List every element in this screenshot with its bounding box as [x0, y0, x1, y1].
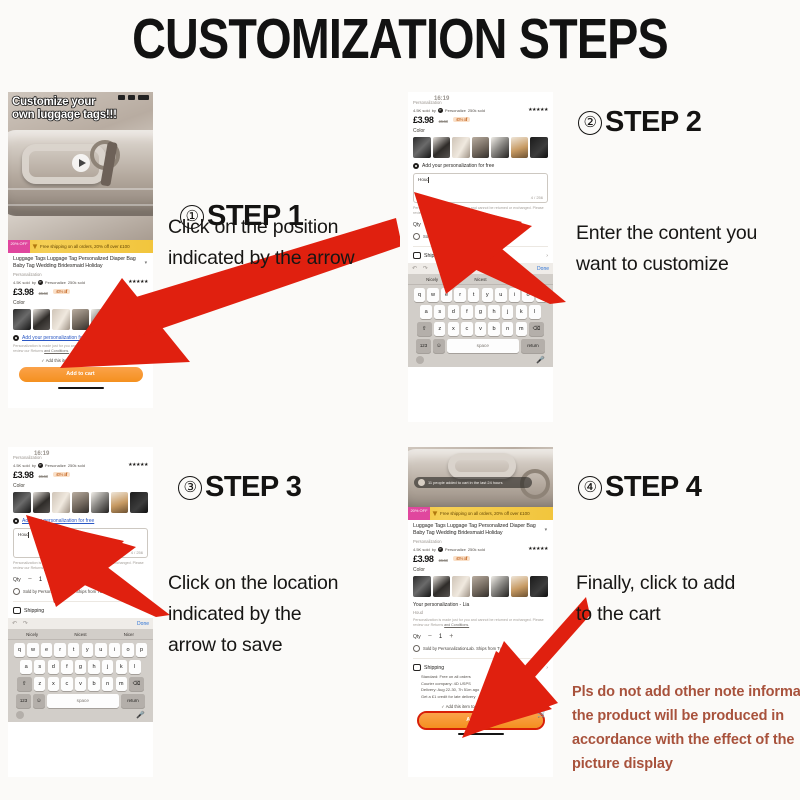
- keyboard-suggestions[interactable]: Nicely Nicest Nicer: [408, 274, 553, 285]
- key-a[interactable]: a: [420, 305, 431, 319]
- color-swatch[interactable]: [413, 576, 431, 597]
- key-k[interactable]: k: [116, 660, 127, 674]
- social-proof-toast: 11 people added to cart in the last 24 h…: [414, 477, 532, 488]
- color-swatch-list[interactable]: [13, 492, 148, 513]
- promo-banner: 20% OFF ▼ Free shipping on all orders, 2…: [8, 240, 153, 253]
- key-s[interactable]: s: [434, 305, 445, 319]
- key-b[interactable]: b: [88, 677, 99, 691]
- wifi-icon: [128, 95, 135, 100]
- personalization-fineprint: Personalization is made just for you and…: [13, 344, 148, 354]
- truck-icon: [413, 664, 421, 671]
- qty-plus-button[interactable]: +: [449, 633, 453, 640]
- color-swatch[interactable]: [33, 309, 51, 330]
- personalization-input[interactable]: Houd 4 / 256: [413, 173, 548, 203]
- chevron-right-icon[interactable]: ›: [546, 665, 548, 671]
- shop-avatar-icon: P: [38, 280, 43, 285]
- space-key[interactable]: space: [47, 694, 119, 708]
- key-s[interactable]: s: [34, 660, 45, 674]
- shop-icon: [413, 233, 420, 240]
- megaphone-icon: ▼: [30, 240, 40, 253]
- rating-stars: ★★★★★: [528, 546, 548, 552]
- key-j[interactable]: j: [102, 660, 113, 674]
- key-g[interactable]: g: [475, 305, 486, 319]
- key-p[interactable]: p: [136, 643, 147, 657]
- promo-text: Free shipping on all orders, 20% off ove…: [440, 511, 530, 516]
- keyboard-row-2[interactable]: a s d f g h j k l: [408, 305, 553, 319]
- shipping-line: Get a £1 credit for late delivery: [421, 694, 548, 701]
- return-key[interactable]: return: [121, 694, 145, 708]
- emoji-key[interactable]: ☺: [33, 694, 44, 708]
- warning-note: Pls do not add other note information, t…: [572, 680, 798, 776]
- shipping-details: Standard: Free on all orders Courier com…: [413, 674, 548, 700]
- color-swatch[interactable]: [13, 309, 31, 330]
- step-4-description: Finally, click to add to the cart: [576, 568, 735, 630]
- step-3-description: Click on the location indicated by the a…: [168, 568, 338, 661]
- phone-mock-step-1: Customize your own luggage tags!!! 20% O…: [8, 92, 153, 408]
- color-swatch[interactable]: [530, 137, 548, 158]
- onscreen-keyboard[interactable]: ↶ ↷ Done Nicely Nicest Nicer q w e r t y…: [8, 618, 153, 722]
- promo-badge: 20% OFF: [408, 507, 430, 520]
- undo-icon[interactable]: ↶ ↷: [412, 265, 430, 272]
- shipping-row[interactable]: Shipping ›: [13, 601, 148, 614]
- cart-icon[interactable]: 🛒: [137, 347, 147, 356]
- shipping-row[interactable]: Shipping ›: [413, 246, 548, 259]
- status-time: 16:19: [434, 96, 449, 102]
- key-u[interactable]: u: [495, 288, 506, 302]
- chevron-down-icon[interactable]: ▾: [145, 260, 147, 267]
- globe-icon[interactable]: [416, 356, 424, 364]
- customization-steps-infographic: CUSTOMIZATION STEPS Customize your own l…: [0, 0, 800, 800]
- color-swatch[interactable]: [91, 492, 109, 513]
- suggestion-item[interactable]: Nicest: [56, 632, 104, 637]
- key-w[interactable]: w: [27, 643, 38, 657]
- emoji-key[interactable]: ☺: [433, 339, 444, 353]
- key-p[interactable]: p: [536, 288, 547, 302]
- keyboard-row-4[interactable]: 123 ☺ space return: [408, 339, 553, 353]
- gear-icon: [413, 163, 419, 169]
- seller-row: Sold by PersonalizationLab. Ships from T…: [413, 645, 548, 652]
- keyboard-bottom-row[interactable]: 🎤: [8, 708, 153, 719]
- key-m[interactable]: m: [516, 322, 527, 336]
- step-3-label: ③ STEP 3: [178, 471, 301, 504]
- mic-icon[interactable]: 🎤: [136, 711, 145, 719]
- key-z[interactable]: z: [34, 677, 45, 691]
- color-swatch[interactable]: [33, 492, 51, 513]
- seller-row: Sold by PersonalizationLab. Ships from T…: [413, 233, 548, 240]
- keyboard-suggestions[interactable]: Nicely Nicest Nicer: [8, 629, 153, 640]
- backspace-key[interactable]: ⌫: [529, 322, 544, 336]
- color-swatch[interactable]: [413, 137, 431, 158]
- phone-mock-step-3: 16:19 Personalization 4.5K sold by P Per…: [8, 447, 153, 777]
- keyboard-done-button[interactable]: Done: [137, 621, 149, 627]
- shop-icon: [413, 645, 420, 652]
- personalization-input[interactable]: Houd 4 / 256: [13, 528, 148, 558]
- play-icon[interactable]: [72, 154, 90, 172]
- key-l[interactable]: l: [129, 660, 140, 674]
- product-meta-row: 4.5K sold by P Personalize 250k sold ★★★…: [13, 279, 148, 285]
- color-swatch[interactable]: [472, 137, 490, 158]
- promo-text: Free shipping on all orders, 20% off ove…: [40, 244, 130, 249]
- product-price: £3.98 £6.63 40% off: [413, 115, 548, 125]
- battery-icon: [138, 95, 149, 100]
- suggestion-item[interactable]: Nicely: [408, 277, 456, 282]
- color-swatch[interactable]: [52, 309, 70, 330]
- color-swatch[interactable]: [511, 576, 529, 597]
- promo-badge: 20% OFF: [8, 240, 30, 253]
- product-subtitle: Personalization: [13, 272, 148, 277]
- color-label: Color: [13, 483, 148, 489]
- signal-icon: [118, 95, 125, 100]
- key-r[interactable]: r: [54, 643, 65, 657]
- color-swatch-list[interactable]: [413, 576, 548, 597]
- keyboard-row-4[interactable]: 123 ☺ space return: [8, 694, 153, 708]
- quantity-stepper[interactable]: Qty − 1 +: [413, 633, 548, 640]
- seller-row: Sold by PersonalizationLab. Ships from T…: [13, 588, 148, 595]
- product-meta-row: 4.5K sold by P Personalize 250k sold ★★★…: [13, 462, 148, 468]
- add-personalization-row[interactable]: Add your personalization for free: [13, 518, 148, 524]
- add-to-cart-button[interactable]: Add to cart: [19, 367, 143, 382]
- key-x[interactable]: x: [48, 677, 59, 691]
- key-e[interactable]: e: [41, 643, 52, 657]
- numeric-key[interactable]: 123: [16, 694, 31, 708]
- shop-avatar-icon: P: [38, 463, 43, 468]
- gear-icon: [13, 518, 19, 524]
- key-b[interactable]: b: [488, 322, 499, 336]
- key-w[interactable]: w: [427, 288, 438, 302]
- qty-minus-button[interactable]: −: [28, 576, 32, 583]
- status-time: 16:19: [34, 451, 49, 457]
- product-price: £3.98 £6.63 40% off: [413, 554, 548, 564]
- key-v[interactable]: v: [75, 677, 86, 691]
- key-o[interactable]: o: [522, 288, 533, 302]
- truck-icon: [13, 607, 21, 614]
- color-swatch-list[interactable]: [413, 137, 548, 158]
- mic-icon[interactable]: 🎤: [536, 356, 545, 364]
- color-swatch[interactable]: [52, 492, 70, 513]
- product-title: Luggage Tags Luggage Tag Personalized Di…: [413, 523, 548, 537]
- qty-minus-button[interactable]: −: [428, 221, 432, 228]
- gear-icon: [13, 335, 19, 341]
- personalization-fineprint: Personalization is made just for you and…: [413, 206, 548, 216]
- color-swatch[interactable]: [472, 576, 490, 597]
- shift-key[interactable]: ⇧: [17, 677, 32, 691]
- keyboard-row-2[interactable]: a s d f g h j k l: [8, 660, 153, 674]
- qty-minus-button[interactable]: −: [428, 633, 432, 640]
- key-h[interactable]: h: [88, 660, 99, 674]
- key-y[interactable]: y: [482, 288, 493, 302]
- suggestion-item[interactable]: Nicely: [8, 632, 56, 637]
- key-g[interactable]: g: [75, 660, 86, 674]
- suggestion-item[interactable]: Nicest: [456, 277, 504, 282]
- key-t[interactable]: t: [68, 643, 79, 657]
- key-y[interactable]: y: [82, 643, 93, 657]
- color-swatch[interactable]: [491, 137, 509, 158]
- keyboard-toolbar[interactable]: ↶ ↷ Done: [8, 618, 153, 629]
- key-n[interactable]: n: [102, 677, 113, 691]
- undo-icon[interactable]: ↶ ↷: [12, 620, 30, 627]
- color-swatch[interactable]: [530, 576, 548, 597]
- key-c[interactable]: c: [461, 322, 472, 336]
- keyboard-done-button[interactable]: Done: [537, 266, 549, 272]
- price-adjustment-note: ✓ Add this item to enjoy price adjustmen…: [13, 358, 148, 363]
- key-v[interactable]: v: [475, 322, 486, 336]
- color-swatch[interactable]: [511, 137, 529, 158]
- key-d[interactable]: d: [448, 305, 459, 319]
- key-l[interactable]: l: [529, 305, 540, 319]
- numeric-key[interactable]: 123: [416, 339, 431, 353]
- key-u[interactable]: u: [95, 643, 106, 657]
- chevron-right-icon[interactable]: ›: [546, 253, 548, 259]
- shop-avatar-icon: P: [438, 108, 443, 113]
- add-personalization-row[interactable]: Add your personalization for free ▾: [13, 335, 148, 341]
- key-c[interactable]: c: [61, 677, 72, 691]
- keyboard-row-3[interactable]: ⇧ z x c v b n m ⌫: [408, 322, 553, 336]
- price-adjustment-note: ✓ Add this item to enjoy price adjustmen…: [413, 704, 548, 709]
- add-personalization-row[interactable]: Add your personalization for free: [413, 163, 548, 169]
- color-swatch[interactable]: [433, 137, 451, 158]
- key-a[interactable]: a: [20, 660, 31, 674]
- key-r[interactable]: r: [454, 288, 465, 302]
- return-key[interactable]: return: [521, 339, 545, 353]
- add-to-cart-button[interactable]: Add to cart: [419, 713, 543, 728]
- step-2-label: ② STEP 2: [578, 106, 701, 139]
- color-label: Color: [413, 567, 548, 573]
- home-indicator: [58, 387, 104, 389]
- key-q[interactable]: q: [414, 288, 425, 302]
- page-title: CUSTOMIZATION STEPS: [72, 6, 728, 72]
- space-key[interactable]: space: [447, 339, 519, 353]
- home-indicator: [458, 733, 504, 735]
- color-swatch[interactable]: [433, 576, 451, 597]
- step-4-number: ④: [578, 476, 602, 500]
- color-swatch[interactable]: [130, 309, 148, 330]
- promo-banner: 20% OFF ▼ Free shipping on all orders, 2…: [408, 507, 553, 520]
- key-f[interactable]: f: [461, 305, 472, 319]
- key-e[interactable]: e: [441, 288, 452, 302]
- key-i[interactable]: i: [109, 643, 120, 657]
- product-price: £3.98 £6.63 40% off: [13, 287, 148, 297]
- color-swatch[interactable]: [13, 492, 31, 513]
- keyboard-bottom-row[interactable]: 🎤: [408, 353, 553, 364]
- product-price: £3.98 £6.63 40% off: [13, 470, 148, 480]
- color-swatch[interactable]: [91, 309, 109, 330]
- personalization-fineprint: Personalization is made just for you and…: [413, 618, 548, 628]
- key-j[interactable]: j: [502, 305, 513, 319]
- keyboard-toolbar[interactable]: ↶ ↷ Done: [408, 263, 553, 274]
- saved-personalization-row[interactable]: Your personalization - Lia: [413, 602, 548, 608]
- suggestion-item[interactable]: Nicer: [505, 277, 553, 282]
- key-q[interactable]: q: [14, 643, 25, 657]
- truck-icon: [413, 252, 421, 259]
- onscreen-keyboard[interactable]: ↶ ↷ Done Nicely Nicest Nicer q w e r t y…: [408, 263, 553, 367]
- color-label: Color: [413, 128, 548, 134]
- keyboard-row-1[interactable]: q w e r t y u i o p: [408, 288, 553, 302]
- rating-stars: ★★★★★: [128, 462, 148, 468]
- text-caret: [428, 177, 429, 183]
- avatar: [418, 479, 425, 486]
- phone-mock-step-2: 16:19 Personalization 4.5K sold by P Per…: [408, 92, 553, 422]
- step-1-description: Click on the position indicated by the a…: [168, 212, 354, 274]
- globe-icon[interactable]: [16, 711, 24, 719]
- megaphone-icon: ▼: [430, 507, 440, 520]
- keyboard-row-1[interactable]: q w e r t y u i o p: [8, 643, 153, 657]
- color-swatch[interactable]: [130, 492, 148, 513]
- chevron-down-icon[interactable]: ▾: [545, 527, 547, 534]
- rating-stars: ★★★★★: [528, 107, 548, 113]
- product-subtitle: Personalization: [413, 539, 548, 544]
- phone-mock-step-4: 11 people added to cart in the last 24 h…: [408, 447, 553, 777]
- personalization-fineprint: Personalization is made just for you and…: [13, 561, 148, 571]
- text-caret: [28, 532, 29, 538]
- step-2-description: Enter the content you want to customize: [576, 218, 757, 280]
- shop-avatar-icon: P: [438, 547, 443, 552]
- cart-icon[interactable]: 🛒: [537, 709, 547, 718]
- character-counter: 4 / 256: [131, 550, 143, 555]
- product-meta-row: 4.5K sold by P Personalize 250k sold ★★★…: [413, 107, 548, 113]
- key-m[interactable]: m: [116, 677, 127, 691]
- key-i[interactable]: i: [509, 288, 520, 302]
- color-swatch[interactable]: [72, 309, 90, 330]
- key-h[interactable]: h: [488, 305, 499, 319]
- key-x[interactable]: x: [448, 322, 459, 336]
- color-swatch[interactable]: [72, 492, 90, 513]
- key-o[interactable]: o: [122, 643, 133, 657]
- color-label: Color: [13, 300, 148, 306]
- key-k[interactable]: k: [516, 305, 527, 319]
- shop-icon: [13, 588, 20, 595]
- color-swatch[interactable]: [111, 492, 129, 513]
- key-f[interactable]: f: [61, 660, 72, 674]
- product-title: Luggage Tags Luggage Tag Personalized Di…: [13, 256, 148, 270]
- status-bar-icons: [118, 95, 149, 100]
- step-2-number: ②: [578, 111, 602, 135]
- color-swatch[interactable]: [111, 309, 129, 330]
- key-z[interactable]: z: [434, 322, 445, 336]
- suitcase-handle-graphic: [448, 453, 516, 479]
- quantity-stepper[interactable]: Qty − 1 +: [13, 576, 148, 583]
- rating-stars: ★★★★★: [128, 279, 148, 285]
- key-t[interactable]: t: [468, 288, 479, 302]
- color-swatch[interactable]: [452, 137, 470, 158]
- saved-personalization-value: Houd: [413, 610, 548, 615]
- chevron-down-icon[interactable]: ▾: [145, 335, 148, 341]
- shift-key[interactable]: ⇧: [417, 322, 432, 336]
- character-counter: 4 / 256: [531, 195, 543, 200]
- step-4-label: ④ STEP 4: [578, 471, 701, 504]
- qty-plus-button[interactable]: +: [449, 221, 453, 228]
- product-video-thumbnail[interactable]: 11 people added to cart in the last 24 h…: [408, 447, 553, 507]
- step-3-number: ③: [178, 476, 202, 500]
- key-d[interactable]: d: [48, 660, 59, 674]
- shipping-row[interactable]: Shipping ›: [413, 658, 548, 671]
- key-n[interactable]: n: [502, 322, 513, 336]
- chevron-right-icon[interactable]: ›: [146, 608, 148, 614]
- keyboard-row-3[interactable]: ⇧ z x c v b n m ⌫: [8, 677, 153, 691]
- backspace-key[interactable]: ⌫: [129, 677, 144, 691]
- product-video-thumbnail[interactable]: Customize your own luggage tags!!!: [8, 92, 153, 240]
- suggestion-item[interactable]: Nicer: [105, 632, 153, 637]
- color-swatch-list[interactable]: [13, 309, 148, 330]
- qty-plus-button[interactable]: +: [49, 576, 53, 583]
- color-swatch[interactable]: [452, 576, 470, 597]
- product-meta-row: 4.5K sold by P Personalize 250k sold ★★★…: [413, 546, 548, 552]
- quantity-stepper[interactable]: Qty − 1 +: [413, 221, 548, 228]
- color-swatch[interactable]: [491, 576, 509, 597]
